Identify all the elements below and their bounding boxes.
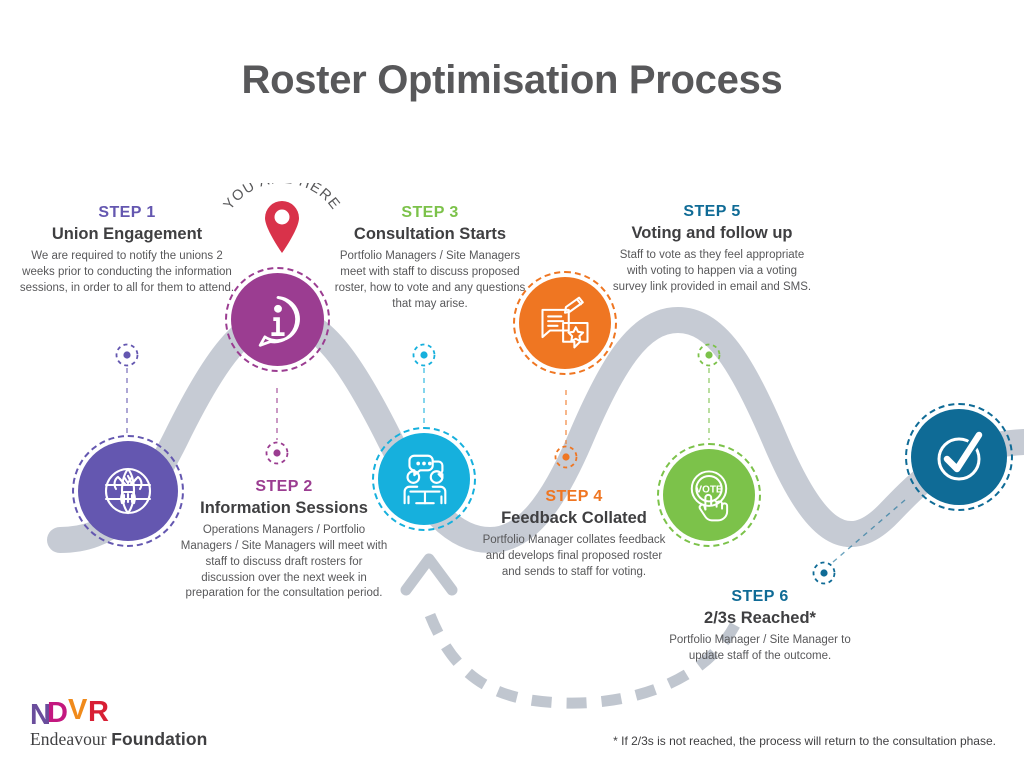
footnote-text: * If 2/3s is not reached, the process wi… [613,734,996,748]
step-6-disc [911,409,1007,505]
step-text-5: STEP 5 Voting and follow up Staff to vot… [612,203,812,296]
step-4-label: STEP 4 [478,488,670,506]
vote-icon-text: VOTE [695,485,722,496]
step-6-desc: Portfolio Manager / Site Manager to upda… [655,633,865,665]
step-node-6[interactable] [905,403,1013,511]
step-6-title: 2/3s Reached* [655,609,865,628]
step-5-label: STEP 5 [612,203,812,221]
step-5-desc: Staff to vote as they feel appropriate w… [612,248,812,296]
information-bubble-icon [248,290,308,350]
step-node-5[interactable]: VOTE [657,443,761,547]
step-4-disc [519,277,611,369]
map-pin-icon [265,201,299,253]
vote-button-hand-icon: VOTE [680,466,738,524]
logo-letter-v: V [68,698,88,726]
step-6-label: STEP 6 [655,588,865,606]
step-4-title: Feedback Collated [478,509,670,528]
step-3-desc: Portfolio Managers / Site Managers meet … [330,249,530,312]
meeting-people-icon [393,448,455,510]
step-1-disc [78,441,178,541]
step-2-label: STEP 2 [178,478,390,496]
ndvr-logo-mark: N D V R [30,698,126,728]
step-node-2[interactable] [225,267,330,372]
logo-wordmark: Endeavour Foundation [30,729,207,750]
step-3-title: Consultation Starts [330,225,530,244]
step-node-1[interactable] [72,435,184,547]
check-circle-icon [927,425,991,489]
handshake-globe-icon [96,459,160,523]
feedback-review-icon [535,293,595,353]
step-1-desc: We are required to notify the unions 2 w… [16,249,238,297]
infographic-canvas: Roster Optimisation Process [0,0,1024,768]
step-2-disc [231,273,324,366]
step-text-6: STEP 6 2/3s Reached* Portfolio Manager /… [655,588,865,665]
step-1-title: Union Engagement [16,225,238,244]
step-4-desc: Portfolio Manager collates feedback and … [478,533,670,581]
endeavour-foundation-logo: N D V R Endeavour Foundation [30,698,207,750]
logo-wordmark-bold: Foundation [111,729,207,749]
step-text-3: STEP 3 Consultation Starts Portfolio Man… [330,204,530,312]
step-1-label: STEP 1 [16,204,238,222]
step-5-disc: VOTE [663,449,755,541]
step-text-1: STEP 1 Union Engagement We are required … [16,204,238,297]
you-are-here-marker: YOU ARE HERE [212,183,352,258]
step-5-title: Voting and follow up [612,224,812,243]
step-2-desc: Operations Managers / Portfolio Managers… [178,523,390,602]
step-text-2: STEP 2 Information Sessions Operations M… [178,478,390,602]
logo-wordmark-light: Endeavour [30,729,111,749]
logo-letter-r: R [88,698,109,728]
step-3-disc [378,433,470,525]
return-loop-arrow [0,0,1024,768]
step-3-label: STEP 3 [330,204,530,222]
logo-letter-d: D [47,698,68,728]
step-text-4: STEP 4 Feedback Collated Portfolio Manag… [478,488,670,581]
step-2-title: Information Sessions [178,499,390,518]
